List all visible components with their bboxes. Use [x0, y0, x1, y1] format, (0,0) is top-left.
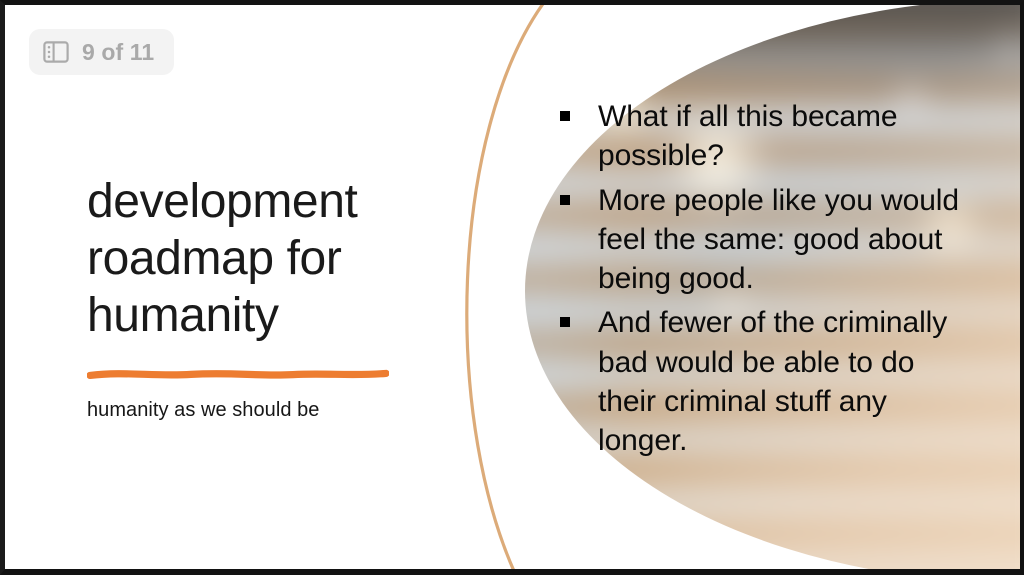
bullet-item: And fewer of the criminally bad would be…: [553, 303, 961, 460]
bullet-item: More people like you would feel the same…: [553, 181, 961, 299]
slide-subtitle: humanity as we should be: [87, 398, 417, 422]
bullet-item: What if all this became possible?: [553, 97, 961, 176]
slide-bullet-list: What if all this became possible? More p…: [553, 97, 961, 466]
orange-brush-rule-icon: [87, 366, 389, 382]
slide-layout-icon: [43, 41, 69, 63]
slide-canvas: 9 of 11 development roadmap for humanity…: [5, 5, 1020, 569]
bullet-text: And fewer of the criminally bad would be…: [598, 306, 947, 457]
slide-title: development roadmap for humanity: [87, 173, 417, 344]
slide-number-label: 9 of 11: [82, 41, 154, 64]
square-bullet-icon: [560, 195, 570, 205]
slide-left-column: development roadmap for humanity humanit…: [87, 173, 417, 422]
bullet-text: More people like you would feel the same…: [598, 184, 959, 296]
slide-number-badge[interactable]: 9 of 11: [29, 29, 174, 75]
square-bullet-icon: [560, 317, 570, 327]
bullet-text: What if all this became possible?: [598, 100, 898, 172]
square-bullet-icon: [560, 111, 570, 121]
presentation-slide-frame: 9 of 11 development roadmap for humanity…: [0, 0, 1024, 575]
